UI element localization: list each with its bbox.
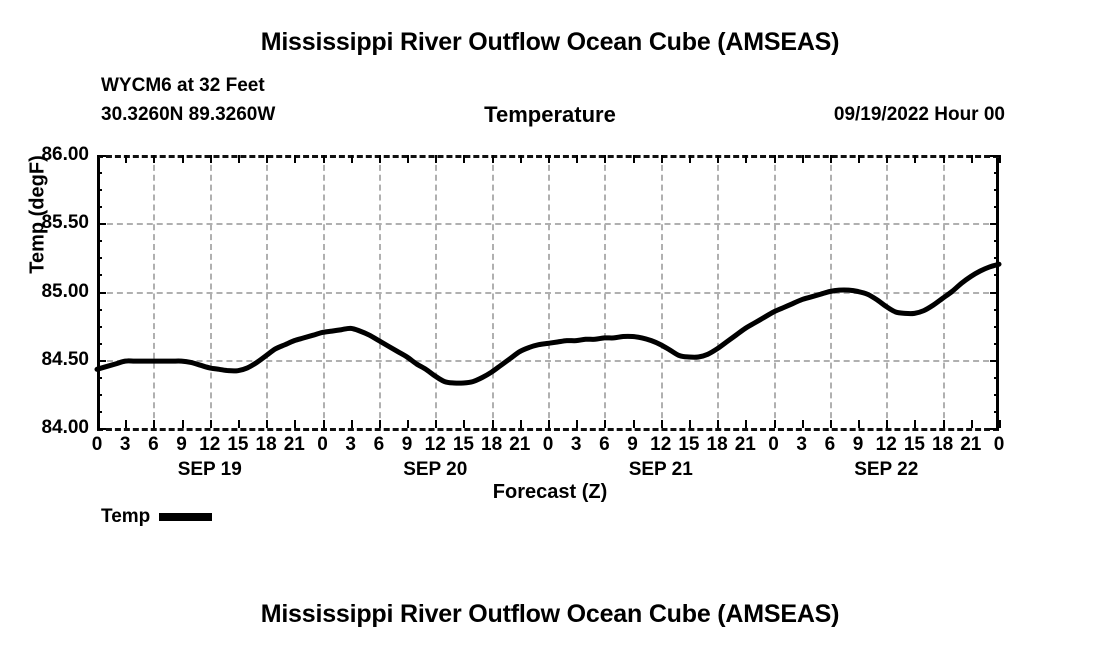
footer-title: Mississippi River Outflow Ocean Cube (AM… bbox=[0, 600, 1100, 629]
x-tick-label: 0 bbox=[979, 434, 1019, 456]
legend: Temp bbox=[101, 506, 212, 528]
temp-series-line bbox=[97, 264, 999, 383]
tick-right-minor bbox=[994, 428, 999, 430]
legend-swatch-temp bbox=[159, 513, 212, 521]
y-tick-label: 85.50 bbox=[0, 212, 89, 234]
legend-label: Temp bbox=[101, 506, 150, 528]
tick-bottom bbox=[999, 420, 1001, 428]
series-plot bbox=[97, 155, 999, 428]
x-day-label: SEP 22 bbox=[816, 459, 956, 481]
x-day-label: SEP 21 bbox=[591, 459, 731, 481]
chart-canvas: Mississippi River Outflow Ocean Cube (AM… bbox=[0, 0, 1100, 650]
tick-top bbox=[999, 155, 1001, 163]
y-tick-label: 84.00 bbox=[0, 417, 89, 439]
station-label: WYCM6 at 32 Feet bbox=[101, 75, 265, 97]
page-title: Mississippi River Outflow Ocean Cube (AM… bbox=[0, 28, 1100, 57]
x-day-label: SEP 20 bbox=[365, 459, 505, 481]
tick-left-minor bbox=[97, 428, 102, 430]
plot-area bbox=[97, 155, 999, 428]
y-tick-label: 85.00 bbox=[0, 281, 89, 303]
x-axis-label: Forecast (Z) bbox=[0, 481, 1100, 504]
y-tick-label: 86.00 bbox=[0, 144, 89, 166]
x-day-label: SEP 19 bbox=[140, 459, 280, 481]
y-tick-label: 84.50 bbox=[0, 349, 89, 371]
forecast-timestamp: 09/19/2022 Hour 00 bbox=[834, 104, 1005, 126]
